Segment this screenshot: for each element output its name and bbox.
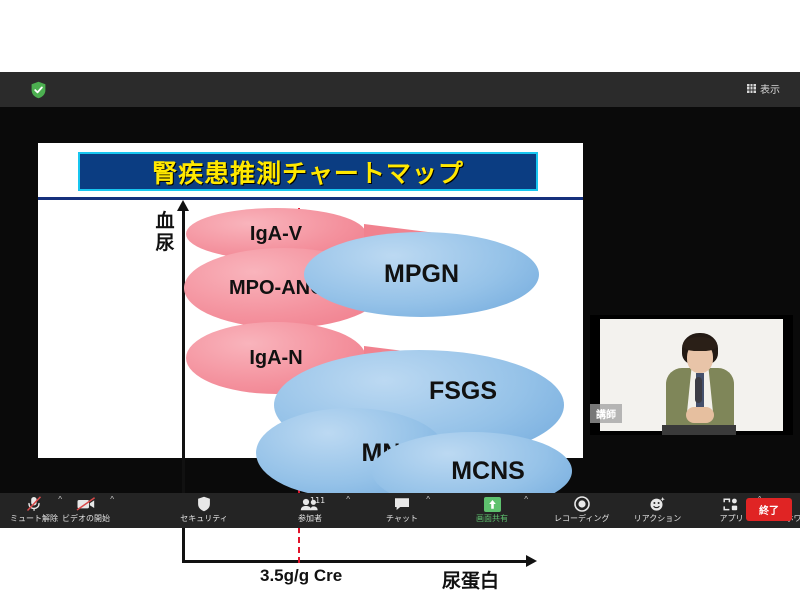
participant-name-badge: 講師 [590, 404, 622, 423]
video-toggle-button[interactable]: ビデオの開始 ^ [60, 493, 112, 524]
chevron-up-icon[interactable]: ^ [110, 496, 114, 504]
mute-toggle-button[interactable]: ミュート解除 ^ [8, 493, 60, 524]
slide-title-box: 腎疾患推測チャートマップ [78, 152, 538, 191]
participants-count: 111 [310, 496, 325, 505]
page-title: 腎疾患推測チャートマップ [152, 154, 464, 190]
zoom-meeting-window: 表示 腎疾患推測チャートマップ 血尿 尿蛋白 3.5g/g Cre [0, 72, 800, 528]
share-screen-label: 画面共有 [476, 513, 508, 524]
region-label: IgA-N [249, 347, 302, 370]
person-fringe [683, 337, 717, 351]
mute-toggle-label: ミュート解除 [10, 513, 58, 524]
chevron-up-icon[interactable]: ^ [524, 496, 528, 504]
apps-icon [723, 496, 739, 512]
region-label: FSGS [429, 377, 497, 406]
participants-button[interactable]: 111 参加者 ^ [284, 493, 336, 524]
x-axis-label: 尿蛋白 [442, 566, 499, 593]
shield-icon [197, 496, 211, 512]
record-icon [574, 496, 590, 512]
meeting-top-bar: 表示 [0, 72, 800, 107]
security-label: セキュリティ [180, 513, 228, 524]
x-axis-arrow-icon [526, 555, 537, 567]
apps-label: アプリ [719, 513, 743, 524]
chat-button[interactable]: チャット ^ [376, 493, 428, 524]
kidney-disease-chart: 血尿 尿蛋白 3.5g/g Cre IgA-V MPO-ANCA IgA-N [38, 200, 583, 458]
avatar [660, 333, 738, 435]
grid-icon [747, 84, 756, 93]
person-podium [662, 425, 736, 435]
video-toggle-label: ビデオの開始 [62, 513, 110, 524]
region-label: MPGN [384, 260, 459, 289]
presentation-slide: 腎疾患推測チャートマップ 血尿 尿蛋白 3.5g/g Cre IgA-V [38, 143, 583, 458]
reactions-label: リアクション [634, 513, 682, 524]
chevron-up-icon[interactable]: ^ [426, 496, 430, 504]
threshold-label: 3.5g/g Cre [260, 566, 342, 586]
share-screen-button[interactable]: 画面共有 ^ [466, 493, 518, 524]
region-mpgn: MPGN [304, 232, 539, 317]
video-background [600, 319, 783, 431]
display-view-label: 表示 [760, 81, 780, 96]
participant-video-tile[interactable]: 講師 [590, 315, 793, 435]
chat-label: チャット [386, 513, 418, 524]
shield-check-icon[interactable] [30, 81, 47, 99]
security-button[interactable]: セキュリティ [178, 493, 230, 524]
region-label: IgA-V [250, 223, 302, 246]
participants-label: 参加者 [298, 513, 322, 524]
handheld-microphone-icon [695, 377, 702, 403]
meeting-toolbar: ミュート解除 ^ ビデオの開始 ^ [0, 493, 800, 528]
video-off-icon [76, 496, 96, 512]
y-axis-label: 血尿 [152, 210, 178, 254]
reactions-icon [649, 496, 666, 512]
person-hands [686, 407, 714, 423]
y-axis-arrow-icon [177, 200, 189, 211]
microphone-muted-icon [25, 496, 43, 512]
shared-screen-stage: 腎疾患推測チャートマップ 血尿 尿蛋白 3.5g/g Cre IgA-V [0, 107, 800, 493]
chevron-up-icon[interactable]: ^ [346, 496, 350, 504]
x-axis-line [182, 560, 528, 563]
chat-icon [394, 496, 410, 512]
display-view-button[interactable]: 表示 [747, 81, 780, 96]
region-label: MCNS [451, 457, 525, 486]
end-meeting-button[interactable]: 終了 [746, 498, 792, 521]
share-screen-icon [484, 496, 501, 512]
recording-label: レコーディング [554, 513, 609, 524]
reactions-button[interactable]: リアクション [631, 493, 683, 524]
recording-button[interactable]: レコーディング [552, 493, 611, 524]
